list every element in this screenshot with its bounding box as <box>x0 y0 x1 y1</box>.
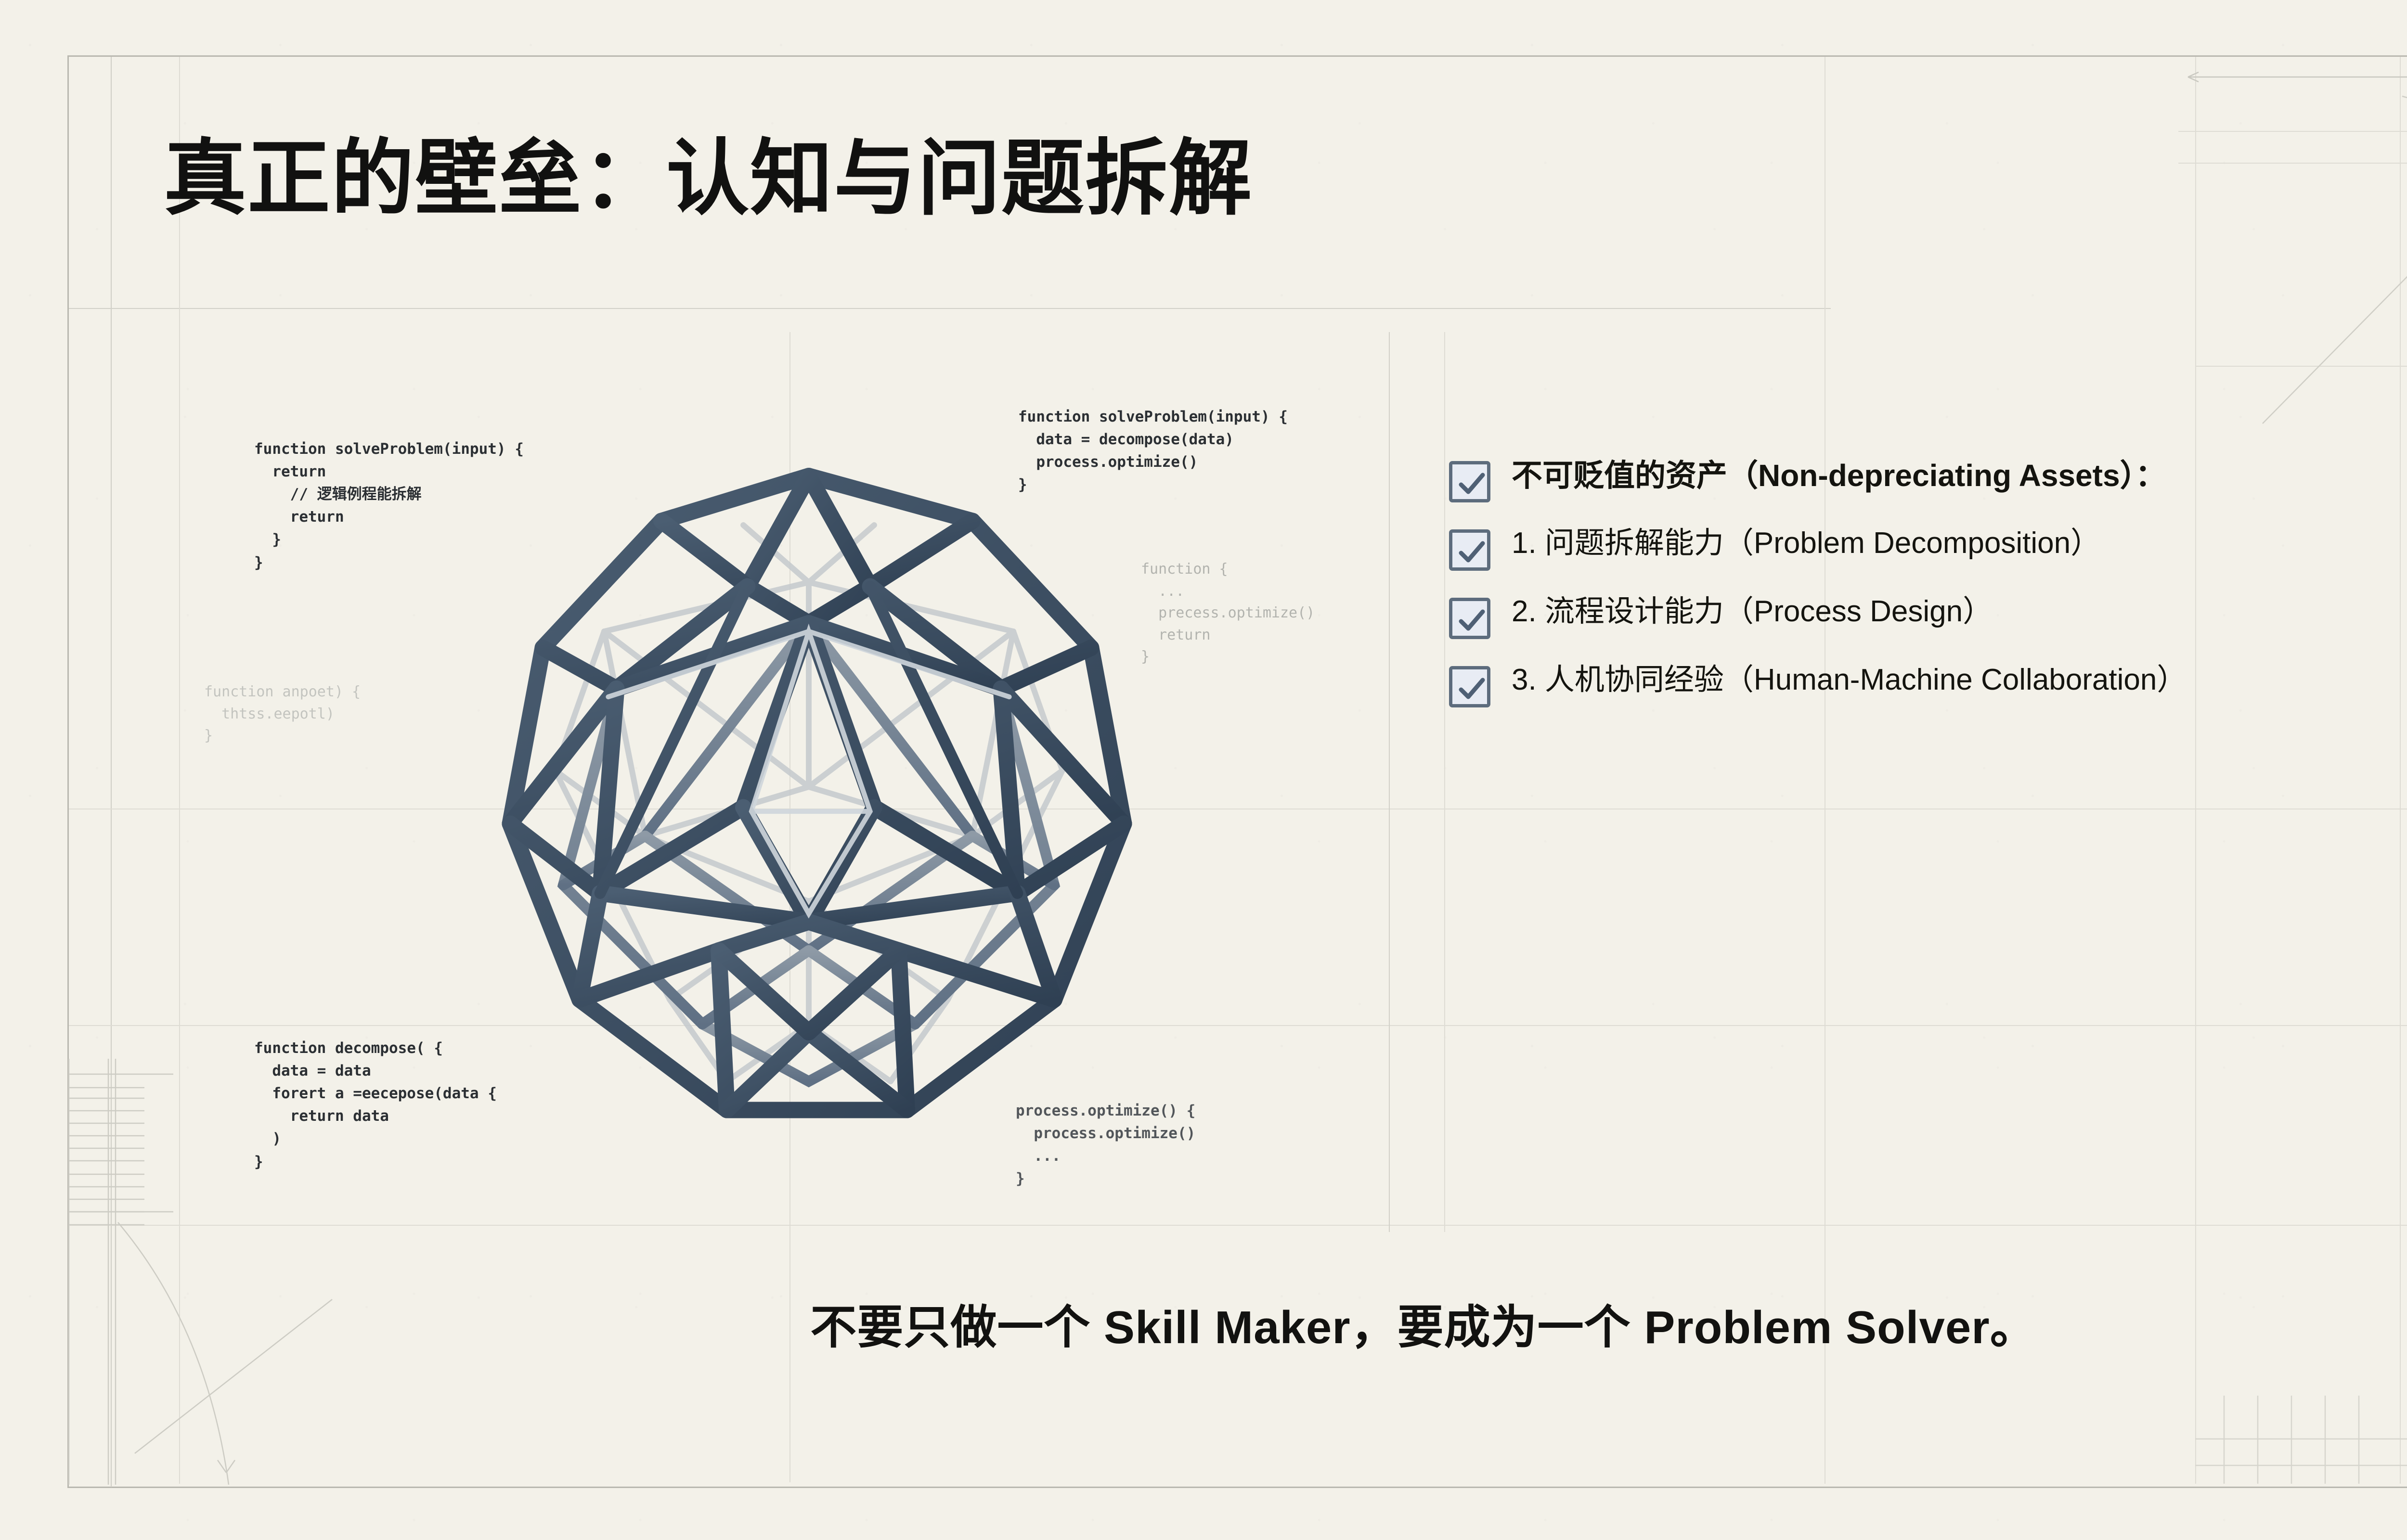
code-snippet-bottom-left: function decompose( { data = data forert… <box>254 1037 497 1173</box>
guide-line-v-r2 <box>2400 57 2401 1484</box>
checklist-item-2[interactable]: 2. 流程设计能力（Process Design） <box>1449 589 2407 639</box>
guide-line-v-mid <box>1825 57 1825 1484</box>
code-snippet-top-left: function solveProblem(input) { return //… <box>254 438 524 574</box>
checklist-item-1[interactable]: 1. 问题拆解能力（Problem Decomposition） <box>1449 521 2407 571</box>
slide-title: 真正的壁垒：认知与问题拆解 <box>164 132 1253 225</box>
guide-line-h-tr2 <box>2178 163 2407 164</box>
slide-caption: 不要只做一个 Skill Maker，要成为一个 Problem Solver。 <box>0 1290 2407 1357</box>
code-snippet-top-right: function solveProblem(input) { data = de… <box>1018 406 1288 496</box>
checklist-item-label: 1. 问题拆解能力（Problem Decomposition） <box>1512 521 2100 566</box>
guide-line-v-left <box>179 57 180 1484</box>
checklist-item-label: 3. 人机协同经验（Human-Machine Collaboration） <box>1512 657 2187 703</box>
checkbox-checked-icon[interactable] <box>1449 666 1490 707</box>
guide-line-v-r1 <box>2195 57 2196 1484</box>
guide-line-h-top <box>69 308 1831 309</box>
checkbox-checked-icon[interactable] <box>1449 598 1490 639</box>
guide-line-h-top2 <box>2195 366 2407 367</box>
guide-line-v-check <box>1444 332 1445 1232</box>
checklist-item-label: 2. 流程设计能力（Process Design） <box>1512 589 1993 634</box>
code-snippet-bottom-right: process.optimize() { process.optimize() … <box>1016 1100 1195 1190</box>
guide-line-h-bottom <box>69 1225 2407 1226</box>
blueprint-frame-inner-rule <box>111 57 112 1487</box>
code-snippet-mid-left: function anpoet) { thtss.eepotl) } <box>204 681 361 747</box>
guide-line-h-tr1 <box>2178 131 2407 132</box>
checkbox-checked-icon[interactable] <box>1449 529 1490 571</box>
checkbox-checked-icon[interactable] <box>1449 461 1490 502</box>
checklist-item-3[interactable]: 3. 人机协同经验（Human-Machine Collaboration） <box>1449 657 2407 707</box>
guide-line-v-col-split <box>1389 332 1390 1232</box>
checklist: 不可贬值的资产（Non-depreciating Assets）： 1. 问题拆… <box>1449 452 2407 726</box>
checklist-item-0[interactable]: 不可贬值的资产（Non-depreciating Assets）： <box>1449 452 2407 502</box>
slide-caption-text: 不要只做一个 Skill Maker，要成为一个 Problem Solver。 <box>724 1290 2036 1357</box>
code-snippet-mid-right: function { ... precess.optimize() return… <box>1141 558 1315 668</box>
checklist-item-label: 不可贬值的资产（Non-depreciating Assets）： <box>1512 452 2166 499</box>
